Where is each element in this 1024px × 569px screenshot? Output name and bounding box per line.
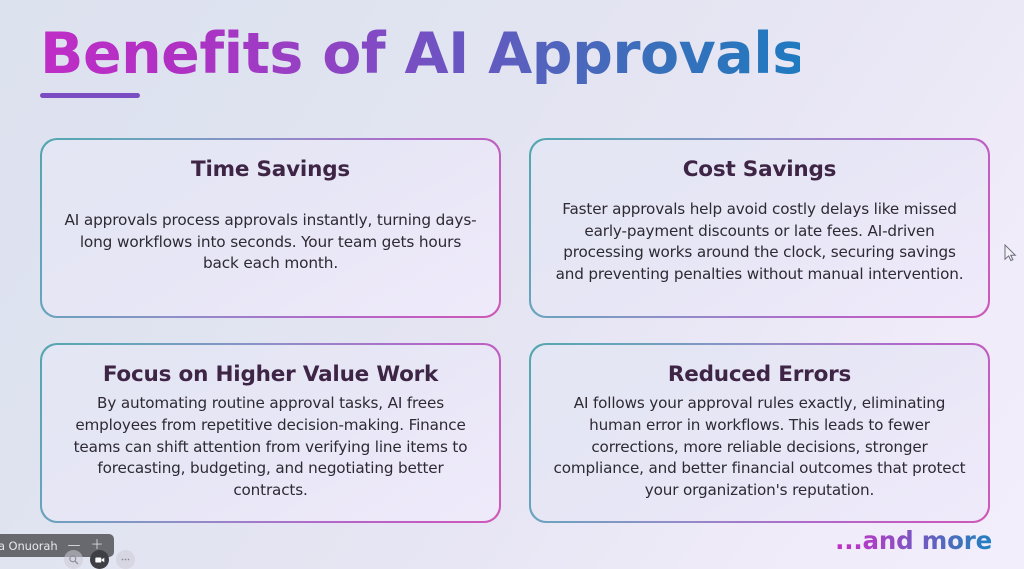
card-body: Faster approvals help avoid costly delay…	[553, 199, 967, 285]
and-more-label: ...and more	[835, 526, 992, 555]
card-title: Time Savings	[191, 157, 350, 183]
title-block: Benefits of AI Approvals	[40, 24, 800, 98]
benefit-card-time-savings: Time Savings AI approvals process approv…	[40, 138, 501, 318]
more-options-icon	[120, 554, 131, 565]
presentation-slide: Benefits of AI Approvals Time Savings AI…	[0, 0, 1024, 569]
meeting-controls-row	[64, 550, 135, 569]
benefit-card-cost-savings: Cost Savings Faster approvals help avoid…	[529, 138, 990, 318]
card-body: By automating routine approval tasks, AI…	[64, 393, 478, 501]
video-camera-icon-button[interactable]	[90, 550, 109, 569]
meeting-overlay: a Onuorah — ＋	[0, 527, 160, 569]
title-underline-accent	[40, 93, 140, 98]
benefits-card-grid: Time Savings AI approvals process approv…	[40, 138, 990, 523]
more-options-icon-button[interactable]	[116, 550, 135, 569]
search-icon-button[interactable]	[64, 550, 83, 569]
presenter-name-label: a Onuorah	[0, 539, 58, 553]
search-icon	[68, 554, 79, 565]
video-camera-icon	[94, 554, 106, 566]
benefit-card-focus-on-higher-value-work: Focus on Higher Value Work By automating…	[40, 343, 501, 523]
benefit-card-reduced-errors: Reduced Errors AI follows your approval …	[529, 343, 990, 523]
card-body: AI follows your approval rules exactly, …	[553, 393, 967, 501]
card-title: Cost Savings	[683, 157, 837, 183]
card-body: AI approvals process approvals instantly…	[64, 210, 478, 275]
card-title: Focus on Higher Value Work	[103, 362, 438, 388]
mouse-cursor	[1004, 244, 1017, 262]
card-title: Reduced Errors	[668, 362, 851, 388]
page-title: Benefits of AI Approvals	[40, 24, 800, 84]
